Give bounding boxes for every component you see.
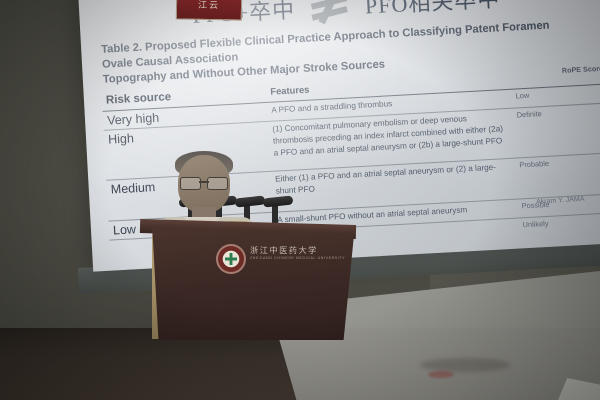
- floor-mark-red: [428, 371, 454, 378]
- name-plate: 江云: [176, 0, 242, 21]
- podium-institution-cn: 浙江中医药大学: [250, 244, 346, 256]
- presentation-photo: PFO+卒中 PFO相关卒中 Table 2. Proposed Flexibl…: [0, 0, 600, 400]
- cell-rope: Definite: [512, 103, 600, 158]
- floor-mark: [420, 358, 510, 372]
- podium-institution-en: ZHEJIANG CHINESE MEDICAL UNIVERSITY: [250, 256, 354, 261]
- not-equal-icon: [306, 0, 354, 23]
- university-logo-icon: [216, 244, 246, 274]
- podium: 浙江中医药大学 ZHEJIANG CHINESE MEDICAL UNIVERS…: [146, 228, 354, 340]
- heading-right-text: PFO相关卒中: [364, 0, 501, 20]
- glasses-icon: [180, 177, 228, 188]
- name-plate-text: 江云: [177, 0, 241, 18]
- cell-rope: Probable: [515, 153, 600, 198]
